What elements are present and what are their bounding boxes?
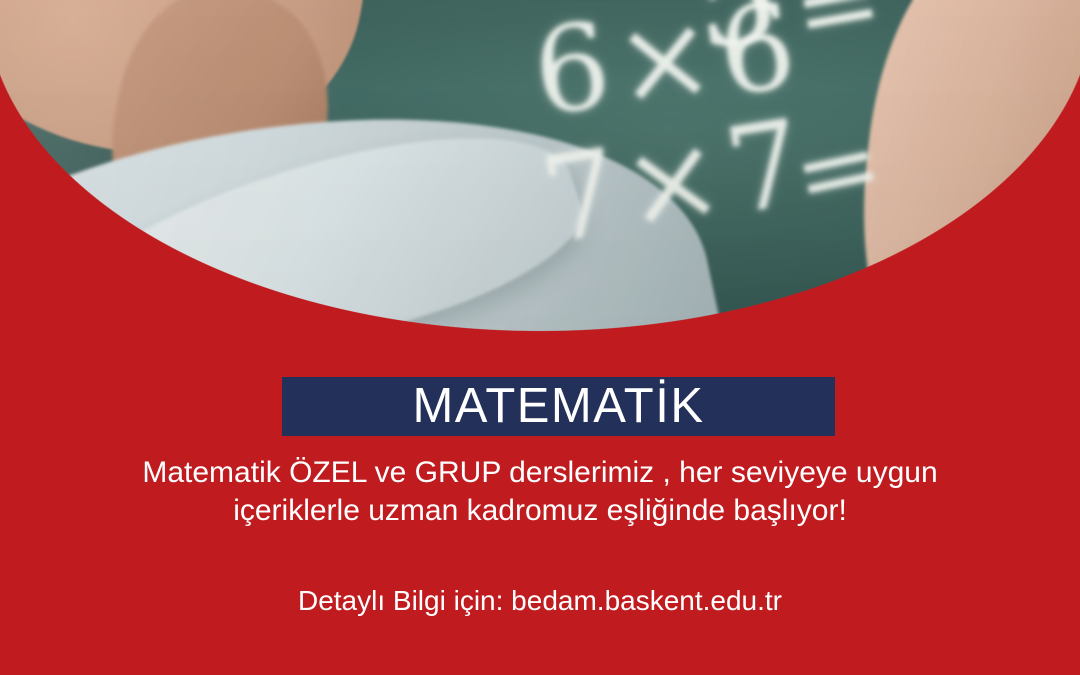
red-arch-overlay	[0, 0, 1080, 345]
contact-info: Detaylı Bilgi için: bedam.baskent.edu.tr	[0, 584, 1080, 618]
title-banner: MATEMATİK	[282, 377, 835, 436]
body-copy: Matematik ÖZEL ve GRUP derslerimiz , her…	[0, 454, 1080, 530]
page-title: MATEMATİK	[412, 382, 704, 431]
poster-root: 5 = 6×6 = 7×7 MATEMATİK Matematik ÖZEL v…	[0, 0, 1080, 675]
contact-info-text: Detaylı Bilgi için: bedam.baskent.edu.tr	[298, 585, 782, 616]
body-copy-line-1: Matematik ÖZEL ve GRUP derslerimiz , her…	[0, 454, 1080, 492]
body-copy-line-2: içeriklerle uzman kadromuz eşliğinde baş…	[0, 492, 1080, 530]
